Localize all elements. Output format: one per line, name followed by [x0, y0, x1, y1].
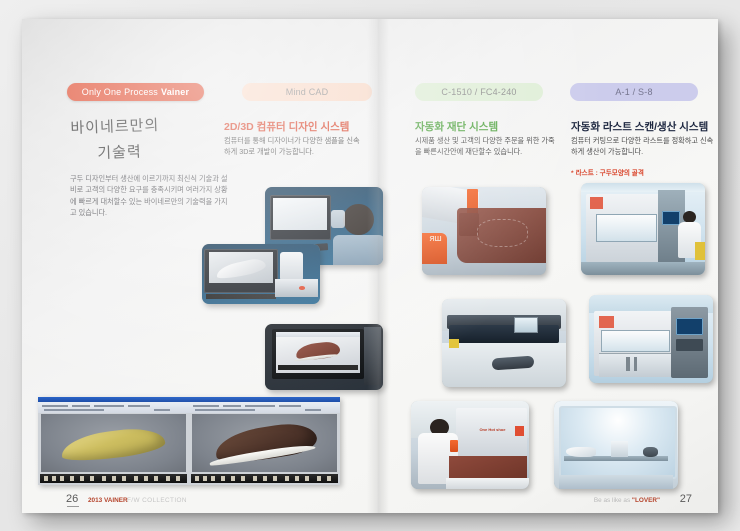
brochure-spread: Only One Process Vainer Mind CAD C-1510 …	[22, 19, 718, 513]
heading-cad: 2D/3D 컴퓨터 디자인 시스템	[224, 119, 349, 134]
footer-brand-left: 2013 VAINER	[88, 497, 128, 504]
brand-logo-mark	[590, 197, 604, 209]
badge-c1510-fc4240: C-1510 / FC4-240	[415, 83, 543, 101]
monitor	[270, 195, 331, 240]
cad-software-strip	[38, 397, 340, 485]
photo-shoe-last-3d-scan	[202, 244, 320, 304]
badge-strong-text: Vainer	[161, 87, 189, 97]
shoe-3d-model-yellow	[60, 425, 167, 464]
photo-cad-shoe-render-monitor	[265, 324, 383, 390]
photo-operator-at-cutting-table: One Hot shoe	[411, 401, 529, 489]
footer-tagline-prefix: Be as like as	[594, 497, 630, 504]
cad-icon-toolbar	[191, 474, 338, 483]
scanner-base	[275, 279, 317, 297]
brand-logo-mark	[515, 426, 524, 437]
machine-bridge	[449, 325, 558, 343]
heading-cutting: 자동화 재단 시스템	[415, 119, 498, 134]
person-torso	[333, 235, 383, 265]
heading-last-scan: 자동화 라스트 스캔/생산 시스템	[571, 119, 708, 134]
body-last-scan: 컴퓨터 커팅으로 다양한 라스트를 정확하고 신속하게 생산이 가능합니다.	[571, 136, 714, 157]
person-head	[343, 204, 374, 235]
photo-scene: ЯШ	[422, 187, 546, 275]
calligraphy-title: 바이네르만의 기술력	[70, 110, 222, 167]
machine-logo: ЯШ	[429, 236, 441, 243]
footer-tagline-right: Be as like as "LOVER"	[594, 497, 660, 504]
spindle-carriage	[611, 441, 628, 457]
cad-menubar	[189, 402, 340, 413]
door-handle	[626, 357, 630, 371]
cutter-head	[643, 447, 658, 458]
body-cad: 컴퓨터를 통해 디자이너가 다양한 샘플을 신속하게 3D로 개발이 가능합니다…	[224, 136, 364, 157]
machine-brand-text: One Hot shoe	[479, 427, 505, 432]
monitor-screen	[276, 332, 361, 373]
photo-scene	[581, 183, 705, 275]
badge-only-one-process: Only One Process Vainer	[67, 83, 204, 101]
cut-pattern-outline	[477, 219, 529, 247]
page-number-right: 27	[680, 493, 692, 505]
photo-scene	[202, 244, 320, 304]
footnote-last: *라스트 : 구두모양의 골격	[571, 167, 644, 177]
photo-scene: One Hot shoe	[411, 401, 529, 489]
machine-base	[559, 475, 673, 489]
shoe-last-blank	[566, 447, 596, 458]
photo-last-production-machine	[581, 183, 705, 275]
screenshot-canvas: Only One Process Vainer Mind CAD C-1510 …	[0, 0, 740, 531]
page-number-left: 26	[66, 493, 78, 505]
machine-accent	[450, 440, 458, 452]
photo-scene	[265, 324, 383, 390]
control-panel-screen	[662, 211, 681, 226]
ceiling	[581, 183, 705, 192]
photo-cutting-table-wide	[442, 299, 566, 387]
cnc-screen	[676, 318, 703, 336]
floor	[581, 262, 705, 275]
equipment	[331, 210, 345, 227]
footnote-text: 라스트 : 구두모양의 골격	[576, 170, 644, 177]
cad-window-yellow-shoe	[38, 397, 189, 485]
indicator-light	[299, 286, 305, 290]
cad-window-brown-shoe	[189, 397, 340, 485]
footer-tagline-quote: "LOVER"	[632, 497, 660, 504]
cad-viewport	[192, 414, 337, 472]
workstation-tower	[364, 327, 381, 385]
cad-viewport	[41, 414, 186, 472]
photo-cnc-last-machine	[589, 295, 713, 383]
door-handle	[634, 357, 638, 371]
badge-a1-s8: A-1 / S-8	[570, 83, 698, 101]
lead-paragraph: 구두 디자인부터 생산에 이르기까지 최신식 기술과 설비로 고객의 다양한 요…	[70, 173, 230, 219]
cad-menubar	[276, 332, 361, 337]
brand-logo-mark	[599, 316, 614, 328]
photo-last-scanner-cabinet	[554, 401, 678, 489]
cnc-keypad	[676, 339, 703, 351]
footer-collection-left: F/W COLLECTION	[127, 497, 187, 504]
warning-marker	[449, 339, 459, 348]
calligraphy-line-1: 바이네르만의	[70, 116, 159, 137]
table-edge	[446, 478, 529, 489]
body-cutting: 시제품 생산 및 고객의 다양한 주문을 위한 가죽을 빠른시간안에 재단할수 …	[415, 136, 560, 157]
cad-icon-toolbar	[40, 474, 187, 483]
photo-cutting-head-closeup: ЯШ	[422, 187, 546, 275]
photo-scene	[442, 299, 566, 387]
control-screen	[514, 317, 538, 333]
photo-scene	[554, 401, 678, 489]
badge-prefix-text: Only One Process	[82, 87, 158, 97]
scanner-arm	[280, 252, 304, 281]
cad-toolbar	[278, 365, 358, 370]
yellow-bin	[695, 242, 705, 260]
calligraphy-line-2: 기술력	[97, 136, 222, 166]
footnote-asterisk: *	[571, 170, 574, 177]
machine-window	[596, 214, 658, 242]
machine-window	[601, 330, 670, 351]
cad-menubar	[38, 402, 189, 413]
badge-mind-cad: Mind CAD	[242, 83, 372, 101]
monitor-bezel	[272, 329, 364, 379]
photo-scene	[589, 295, 713, 383]
toolbar-strip	[206, 294, 277, 298]
